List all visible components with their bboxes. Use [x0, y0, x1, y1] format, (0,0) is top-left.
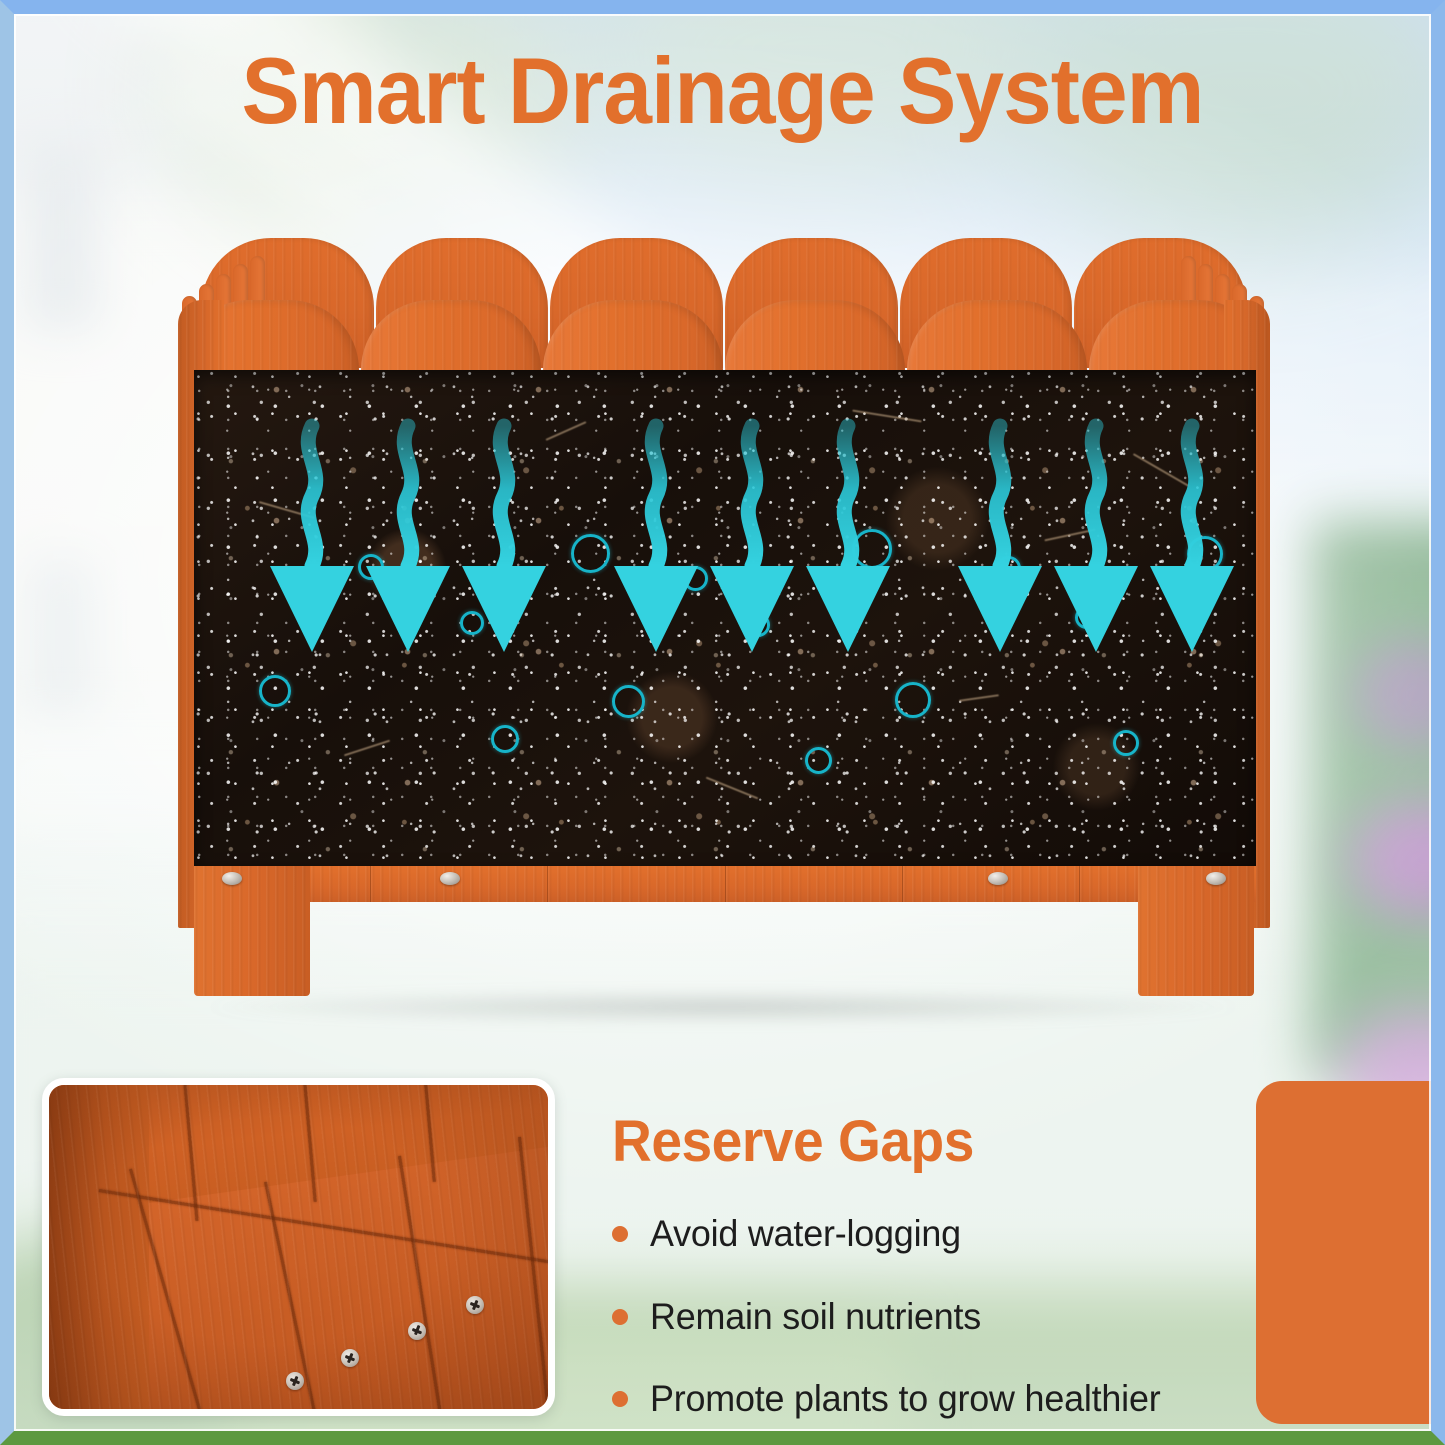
planter-leg-left [194, 866, 310, 996]
inset-photo-content [49, 1085, 548, 1409]
bullet-label: Promote plants to grow healthier [650, 1378, 1160, 1421]
planter-ground-shadow [208, 990, 1238, 1024]
screw [222, 872, 242, 885]
screw [440, 872, 460, 885]
screw [988, 872, 1008, 885]
infographic-canvas: Smart Drainage System [0, 0, 1445, 1445]
feature-heading: Reserve Gaps [612, 1108, 1220, 1175]
rail-segment [371, 866, 548, 902]
list-item: Avoid water-logging [612, 1213, 1252, 1256]
list-item: Promote plants to grow healthier [612, 1378, 1252, 1421]
decorative-corner-block [1256, 1081, 1445, 1424]
bullet-dot-icon [612, 1391, 628, 1407]
soil-panel [194, 370, 1256, 866]
bottom-rail [194, 866, 1256, 902]
rail-segment [903, 866, 1080, 902]
bullet-dot-icon [612, 1226, 628, 1242]
bullet-label: Avoid water-logging [650, 1213, 961, 1256]
water-flow-arrows [194, 370, 1256, 866]
list-item: Remain soil nutrients [612, 1296, 1252, 1339]
rail-segment [548, 866, 725, 902]
planter-leg-right [1138, 866, 1254, 996]
page-title: Smart Drainage System [51, 42, 1395, 141]
feature-copy-block: Reserve Gaps Avoid water-logging Remain … [612, 1108, 1252, 1421]
inset-vignette [49, 1085, 548, 1409]
bullet-label: Remain soil nutrients [650, 1296, 981, 1339]
bullet-dot-icon [612, 1309, 628, 1325]
screw [1206, 872, 1226, 885]
feature-bullet-list: Avoid water-logging Remain soil nutrient… [612, 1213, 1252, 1421]
planter-illustration [178, 238, 1270, 998]
detail-photo-inset [42, 1078, 555, 1416]
rail-segment [726, 866, 903, 902]
